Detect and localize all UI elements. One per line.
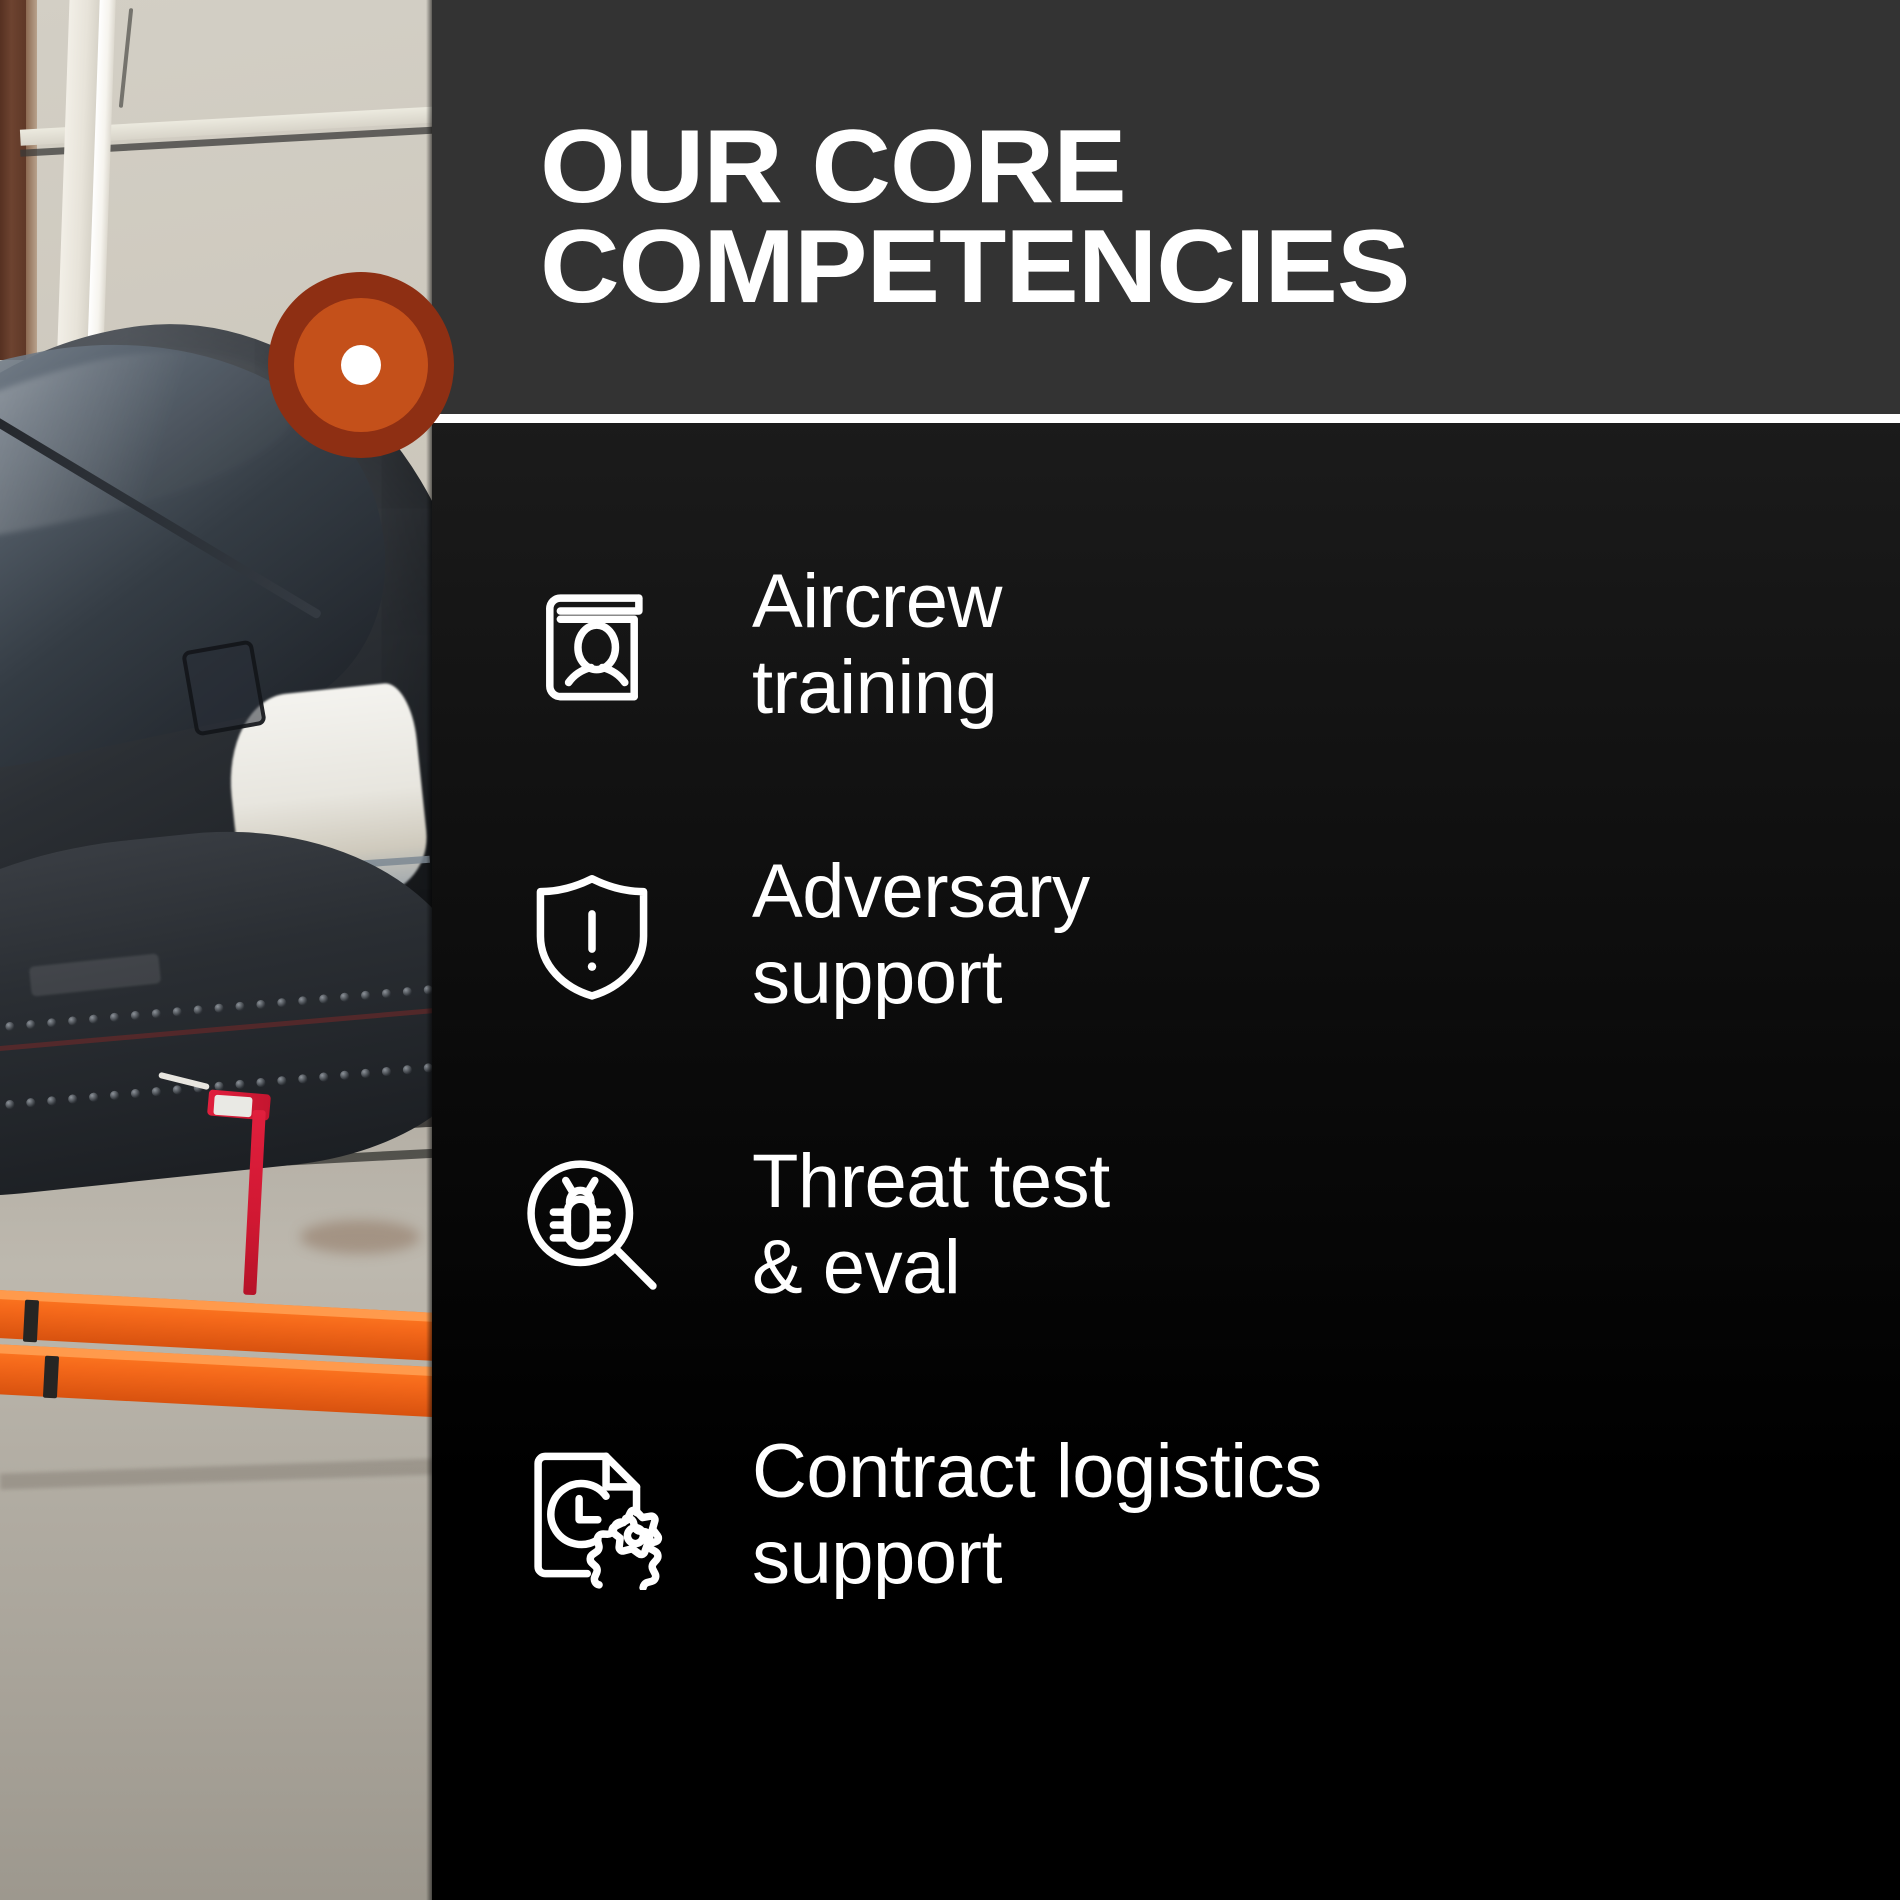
rivet	[26, 1098, 36, 1108]
page-title: OUR CORE COMPETENCIES	[540, 118, 1876, 318]
rivet	[68, 1094, 78, 1104]
hangar-wall-post-edge	[26, 0, 37, 360]
rivet	[277, 998, 287, 1008]
rivet	[361, 991, 371, 1001]
list-item-label: Contract logistics support	[752, 1429, 1322, 1601]
rivet	[151, 1009, 161, 1019]
book-person-icon	[432, 570, 752, 720]
helicopter-door-window	[181, 639, 267, 736]
rivet	[361, 1069, 371, 1079]
list-item-label: Threat test & eval	[752, 1139, 1110, 1311]
rivet	[131, 1011, 141, 1021]
document-clock-gear-icon	[432, 1440, 752, 1590]
beam-bracket-upper	[23, 1300, 39, 1343]
core-competencies-list: Aircrew training Adversary support	[432, 500, 1900, 1660]
rivet	[382, 989, 392, 999]
rivet	[131, 1089, 141, 1099]
target-marker	[268, 272, 454, 458]
beam-bracket-lower	[43, 1356, 59, 1399]
rivet	[298, 996, 308, 1006]
floor-stain	[300, 1220, 420, 1254]
rivet	[47, 1096, 57, 1106]
bug-magnifier-icon	[432, 1150, 752, 1300]
shield-alert-icon	[432, 860, 752, 1010]
list-item-label: Aircrew training	[752, 559, 1002, 731]
rivet	[193, 1005, 203, 1015]
rivet	[277, 1076, 287, 1086]
list-item: Contract logistics support	[432, 1370, 1900, 1660]
infographic-canvas: OUR CORE COMPETENCIES Aircrew training	[0, 0, 1900, 1900]
rivet	[256, 1078, 266, 1088]
rivet	[172, 1085, 182, 1095]
rivet	[110, 1090, 120, 1100]
list-item: Threat test & eval	[432, 1080, 1900, 1370]
header-divider-rule	[432, 414, 1900, 423]
rivet	[26, 1020, 36, 1030]
list-item: Aircrew training	[432, 500, 1900, 790]
rivet	[151, 1087, 161, 1097]
rivet	[5, 1100, 15, 1110]
rivet	[402, 987, 412, 997]
rivet	[68, 1016, 78, 1026]
rivet	[340, 1070, 350, 1080]
rivet	[340, 992, 350, 1002]
streamer-tag	[213, 1095, 252, 1118]
rivet	[235, 1079, 245, 1089]
rivet	[47, 1018, 57, 1028]
rivet	[319, 1072, 329, 1082]
rivet	[89, 1014, 99, 1024]
rivet	[298, 1074, 308, 1084]
rivet	[319, 994, 329, 1004]
marker-center-dot	[341, 345, 381, 385]
rivet	[172, 1007, 182, 1017]
list-item-label: Adversary support	[752, 849, 1090, 1021]
rivet	[256, 1000, 266, 1010]
rivet	[382, 1067, 392, 1077]
rivet	[5, 1022, 15, 1032]
list-item: Adversary support	[432, 790, 1900, 1080]
rivet	[235, 1001, 245, 1011]
rivet	[402, 1065, 412, 1075]
rivet	[214, 1003, 224, 1013]
rivet	[110, 1012, 120, 1022]
rivet	[89, 1092, 99, 1102]
